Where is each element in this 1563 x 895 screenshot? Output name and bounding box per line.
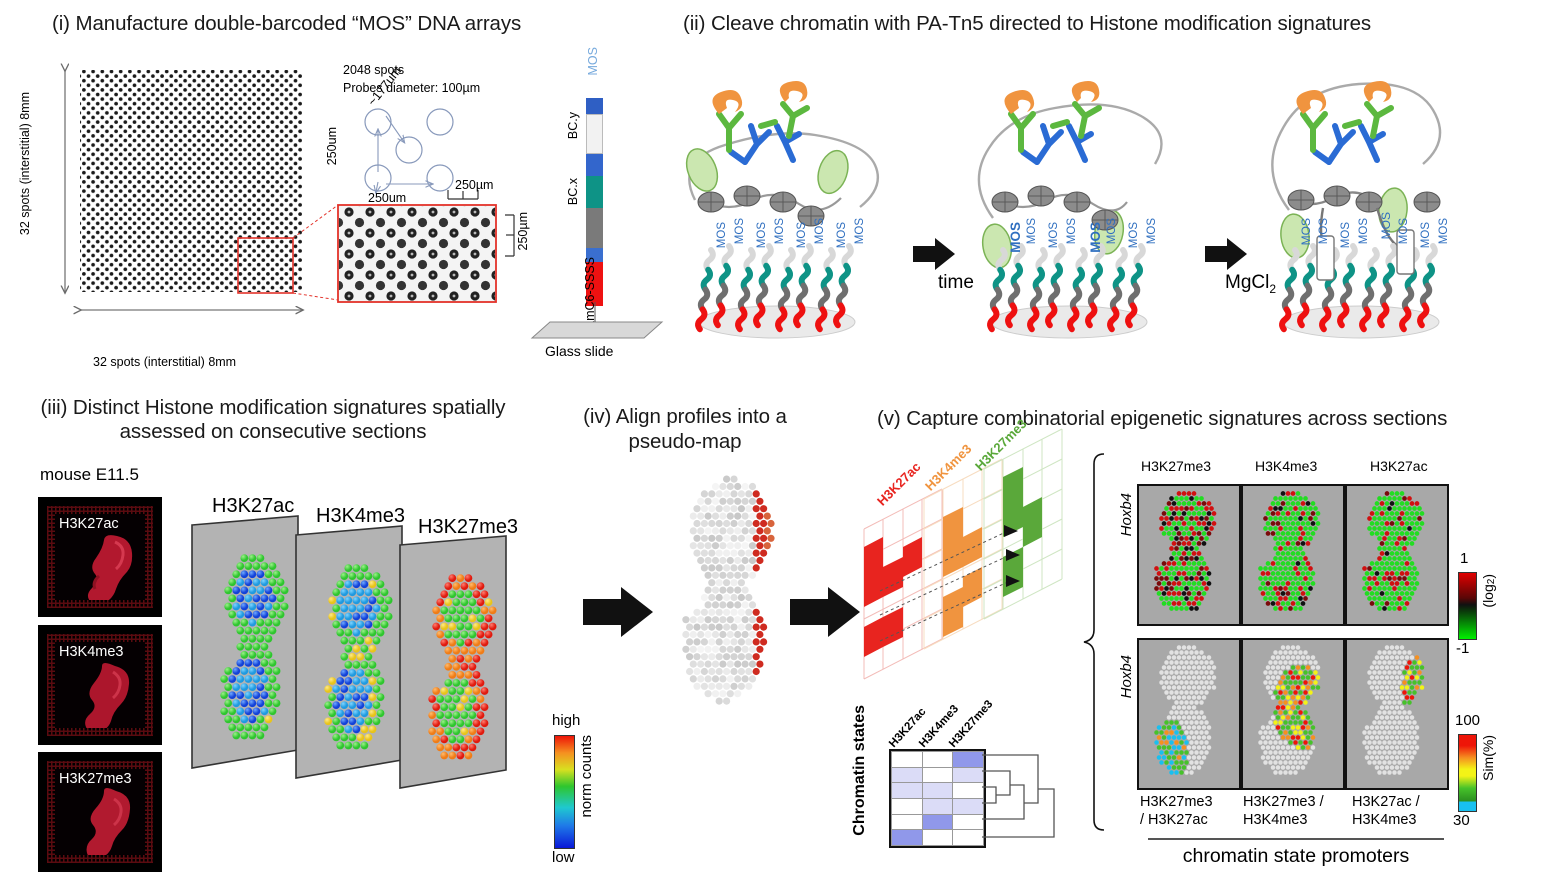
spot [257, 586, 265, 594]
spot [1306, 735, 1311, 740]
spot [361, 693, 369, 701]
spot [261, 562, 269, 570]
spot [745, 653, 752, 660]
spot [756, 616, 763, 623]
spot [1377, 526, 1382, 531]
spot [1177, 541, 1182, 546]
spot [716, 683, 723, 690]
spot [1184, 536, 1189, 541]
spot [1202, 755, 1207, 760]
spot [1288, 770, 1293, 775]
spot [1189, 516, 1194, 521]
matrix-cell [953, 783, 984, 799]
spot [1273, 670, 1278, 675]
spot [1308, 586, 1313, 591]
spot [377, 709, 385, 717]
spot [1291, 665, 1296, 670]
spot [1303, 566, 1308, 571]
spot [1405, 521, 1410, 526]
spot [340, 734, 348, 742]
spot [1303, 556, 1308, 561]
spot [1271, 571, 1276, 576]
spot [1258, 576, 1263, 581]
spot [1412, 750, 1417, 755]
spot [1172, 581, 1177, 586]
spot [1179, 596, 1184, 601]
spot [1380, 715, 1385, 720]
spot [1415, 665, 1420, 670]
spot [1410, 521, 1415, 526]
spot [265, 651, 273, 659]
spot [444, 631, 452, 639]
mos-label: MOS [1420, 222, 1432, 248]
spot [742, 631, 749, 638]
spot [1192, 655, 1197, 660]
spot [1395, 705, 1400, 710]
spot [705, 513, 712, 520]
spot [1278, 730, 1283, 735]
spot [273, 603, 281, 611]
spot [1402, 566, 1407, 571]
spot [1182, 755, 1187, 760]
spot [1177, 725, 1182, 730]
spot [1263, 576, 1268, 581]
spot [1189, 770, 1194, 775]
spot [1281, 705, 1286, 710]
spot [348, 734, 356, 742]
spot [1268, 566, 1273, 571]
spot [452, 663, 460, 671]
spot [361, 596, 369, 604]
spot [1385, 645, 1390, 650]
spot [738, 520, 745, 527]
spot [377, 629, 385, 637]
spot [1202, 745, 1207, 750]
spot [1266, 511, 1271, 516]
spot [1261, 571, 1266, 576]
spot [1157, 591, 1162, 596]
spot [1415, 501, 1420, 506]
spot [1189, 576, 1194, 581]
spot [1179, 700, 1184, 705]
spot [1194, 576, 1199, 581]
spot [1169, 730, 1174, 735]
spot [340, 685, 348, 693]
spot [1192, 705, 1197, 710]
spot [1286, 735, 1291, 740]
spot [1301, 501, 1306, 506]
spot [1301, 765, 1306, 770]
mos-label: MOS [836, 222, 848, 248]
spot [690, 675, 697, 682]
spot [712, 631, 719, 638]
spot [727, 572, 734, 579]
spot [469, 711, 477, 719]
spot [328, 709, 336, 717]
spot [357, 653, 365, 661]
barcode-seg-mos-top [586, 98, 603, 114]
spot [1417, 660, 1422, 665]
spot [452, 631, 460, 639]
spot [1407, 566, 1412, 571]
spot [1199, 700, 1204, 705]
spot [1182, 591, 1187, 596]
spot [705, 587, 712, 594]
spot [1375, 601, 1380, 606]
spot [1159, 740, 1164, 745]
spot [1291, 765, 1296, 770]
spot [269, 707, 277, 715]
spot [1293, 660, 1298, 665]
spot [1194, 670, 1199, 675]
spot [1392, 700, 1397, 705]
spot [1306, 695, 1311, 700]
spot [716, 668, 723, 675]
spot [1382, 576, 1387, 581]
panel-i-probe-diameter: Probes diameter: 100µm [343, 81, 480, 95]
spot [1192, 501, 1197, 506]
spot [1273, 576, 1278, 581]
spot [1392, 536, 1397, 541]
spot [1271, 601, 1276, 606]
spot [734, 527, 741, 534]
spot [244, 724, 252, 732]
spot [1207, 531, 1212, 536]
spot [738, 653, 745, 660]
spot [1402, 690, 1407, 695]
spot [1293, 740, 1298, 745]
spot [481, 623, 489, 631]
spot [1405, 551, 1410, 556]
spot [1197, 765, 1202, 770]
spot [236, 562, 244, 570]
spot [742, 498, 749, 505]
spot [1380, 511, 1385, 516]
panel-iii-section-planes [190, 500, 560, 870]
spot [324, 685, 332, 693]
spot [365, 588, 373, 596]
spot [1174, 650, 1179, 655]
spot [1400, 655, 1405, 660]
spot [1362, 730, 1367, 735]
spot [1263, 596, 1268, 601]
spot [690, 513, 697, 520]
spot [1367, 670, 1372, 675]
spot [1167, 561, 1172, 566]
spot [1266, 735, 1271, 740]
spot [1283, 586, 1288, 591]
spot [1192, 521, 1197, 526]
fluor-label: H3K27ac [59, 516, 119, 532]
spot [1303, 710, 1308, 715]
spot [1291, 551, 1296, 556]
barcode-seg-bcx-grey [586, 208, 603, 248]
spot [257, 635, 265, 643]
spot [1184, 546, 1189, 551]
spot [1273, 770, 1278, 775]
spot [1288, 740, 1293, 745]
spot [232, 667, 240, 675]
spot [1268, 730, 1273, 735]
spot [440, 719, 448, 727]
spot [1271, 725, 1276, 730]
spot [1405, 655, 1410, 660]
spot [1395, 591, 1400, 596]
spot [336, 726, 344, 734]
spot [1400, 531, 1405, 536]
spot [1199, 596, 1204, 601]
spot [1410, 571, 1415, 576]
spot [369, 677, 377, 685]
spot [705, 572, 712, 579]
spot [457, 623, 465, 631]
spot [1172, 541, 1177, 546]
spot [357, 588, 365, 596]
spot [1202, 581, 1207, 586]
spot [1273, 586, 1278, 591]
table-row [892, 752, 984, 768]
spot [716, 490, 723, 497]
spot [465, 687, 473, 695]
spot [1291, 581, 1296, 586]
spot [469, 695, 477, 703]
spot [738, 579, 745, 586]
spot [448, 639, 456, 647]
spot [1182, 725, 1187, 730]
spot [1286, 541, 1291, 546]
spot [1402, 536, 1407, 541]
spot [712, 601, 719, 608]
spot [1182, 501, 1187, 506]
spot [1268, 506, 1273, 511]
spot [253, 707, 261, 715]
spot [348, 588, 356, 596]
spot [249, 635, 257, 643]
spot [1377, 650, 1382, 655]
spot [1377, 586, 1382, 591]
spot [1194, 586, 1199, 591]
spot [1278, 660, 1283, 665]
spot [1169, 566, 1174, 571]
spot [365, 621, 373, 629]
spot [1293, 566, 1298, 571]
spot [361, 580, 369, 588]
spot [469, 615, 477, 623]
spot [1276, 601, 1281, 606]
spot [1187, 715, 1192, 720]
spot [1370, 531, 1375, 536]
matrix-cell [892, 830, 923, 846]
spot [1303, 760, 1308, 765]
spot [1281, 561, 1286, 566]
spot [461, 744, 469, 752]
spot [265, 683, 273, 691]
spot [1204, 670, 1209, 675]
spot [244, 659, 252, 667]
spot [1382, 720, 1387, 725]
spot [1204, 680, 1209, 685]
spot [1400, 725, 1405, 730]
spot [719, 587, 726, 594]
spot [1169, 760, 1174, 765]
spot [1283, 506, 1288, 511]
spot [1397, 586, 1402, 591]
spot [465, 752, 473, 760]
spot [705, 527, 712, 534]
spot [1273, 496, 1278, 501]
spot [1380, 765, 1385, 770]
spot [1266, 561, 1271, 566]
spot [1273, 750, 1278, 755]
spot [1293, 536, 1298, 541]
spot [344, 742, 352, 750]
spot [1172, 705, 1177, 710]
spot [1402, 660, 1407, 665]
spot [1283, 730, 1288, 735]
spot [1420, 665, 1425, 670]
spot [1301, 675, 1306, 680]
spot [1405, 571, 1410, 576]
spot [1296, 501, 1301, 506]
spot [440, 623, 448, 631]
spot [742, 483, 749, 490]
spot [477, 647, 485, 655]
spot [1308, 516, 1313, 521]
spot [469, 598, 477, 606]
spot [244, 707, 252, 715]
spot [1184, 760, 1189, 765]
spot [1402, 506, 1407, 511]
spot [1380, 675, 1385, 680]
spot [1288, 700, 1293, 705]
spot [712, 527, 719, 534]
spot [357, 637, 365, 645]
spot [708, 594, 715, 601]
spot [1266, 601, 1271, 606]
spot [723, 624, 730, 631]
spot [701, 550, 708, 557]
spot [1382, 730, 1387, 735]
spot [1167, 715, 1172, 720]
spot [1278, 720, 1283, 725]
spot [1192, 541, 1197, 546]
spot [1301, 755, 1306, 760]
bottom-label-line: H3K27me3 [1140, 793, 1244, 811]
spot [1392, 606, 1397, 611]
spot [1377, 710, 1382, 715]
spot [236, 659, 244, 667]
spot [257, 554, 265, 562]
spot [1375, 685, 1380, 690]
spot [1182, 745, 1187, 750]
spot [1172, 521, 1177, 526]
spot [723, 653, 730, 660]
spot [1291, 655, 1296, 660]
spot [1261, 755, 1266, 760]
spot [1415, 725, 1420, 730]
spot [1288, 586, 1293, 591]
spot [1303, 740, 1308, 745]
spot [1266, 685, 1271, 690]
spot [1167, 521, 1172, 526]
spot [336, 742, 344, 750]
spot [457, 655, 465, 663]
spot [1301, 685, 1306, 690]
spot [1204, 576, 1209, 581]
spot [1174, 526, 1179, 531]
spot [1276, 511, 1281, 516]
spot [228, 611, 236, 619]
spot [1402, 680, 1407, 685]
spot [719, 572, 726, 579]
spot [1197, 655, 1202, 660]
spot [1392, 596, 1397, 601]
spot [1397, 526, 1402, 531]
spot [1308, 680, 1313, 685]
spot [1400, 581, 1405, 586]
panel-iii-colorbar-high-label: high [552, 712, 580, 729]
spot [1387, 730, 1392, 735]
spot [723, 668, 730, 675]
spot [1167, 725, 1172, 730]
spot [1402, 720, 1407, 725]
spot [1395, 715, 1400, 720]
spot [249, 570, 257, 578]
spot [373, 588, 381, 596]
spot [1194, 566, 1199, 571]
spot [461, 727, 469, 735]
spot [1187, 745, 1192, 750]
spot [344, 613, 352, 621]
spot [1278, 650, 1283, 655]
spot [1276, 561, 1281, 566]
spot [369, 580, 377, 588]
spot [1380, 725, 1385, 730]
spot [1412, 690, 1417, 695]
spot [1303, 526, 1308, 531]
table-row [892, 798, 984, 814]
spot [1311, 501, 1316, 506]
spot [1387, 680, 1392, 685]
spot [1204, 516, 1209, 521]
spot [1189, 710, 1194, 715]
spot [1286, 511, 1291, 516]
spot [1372, 680, 1377, 685]
spot [1174, 546, 1179, 551]
spot [1174, 720, 1179, 725]
spot [1308, 730, 1313, 735]
spot [1167, 581, 1172, 586]
spot [1212, 685, 1217, 690]
spot [1288, 566, 1293, 571]
matrix-cell [892, 767, 923, 783]
spot [1189, 720, 1194, 725]
spot [1197, 571, 1202, 576]
spot [1397, 596, 1402, 601]
spot [1301, 695, 1306, 700]
spot [753, 638, 760, 645]
spot [693, 683, 700, 690]
spot [1192, 561, 1197, 566]
spot [705, 631, 712, 638]
spot [734, 601, 741, 608]
spot [261, 675, 269, 683]
spot [1154, 586, 1159, 591]
spot [1397, 730, 1402, 735]
spot [253, 643, 261, 651]
mos-label: MOS [1026, 218, 1038, 244]
spot [727, 631, 734, 638]
